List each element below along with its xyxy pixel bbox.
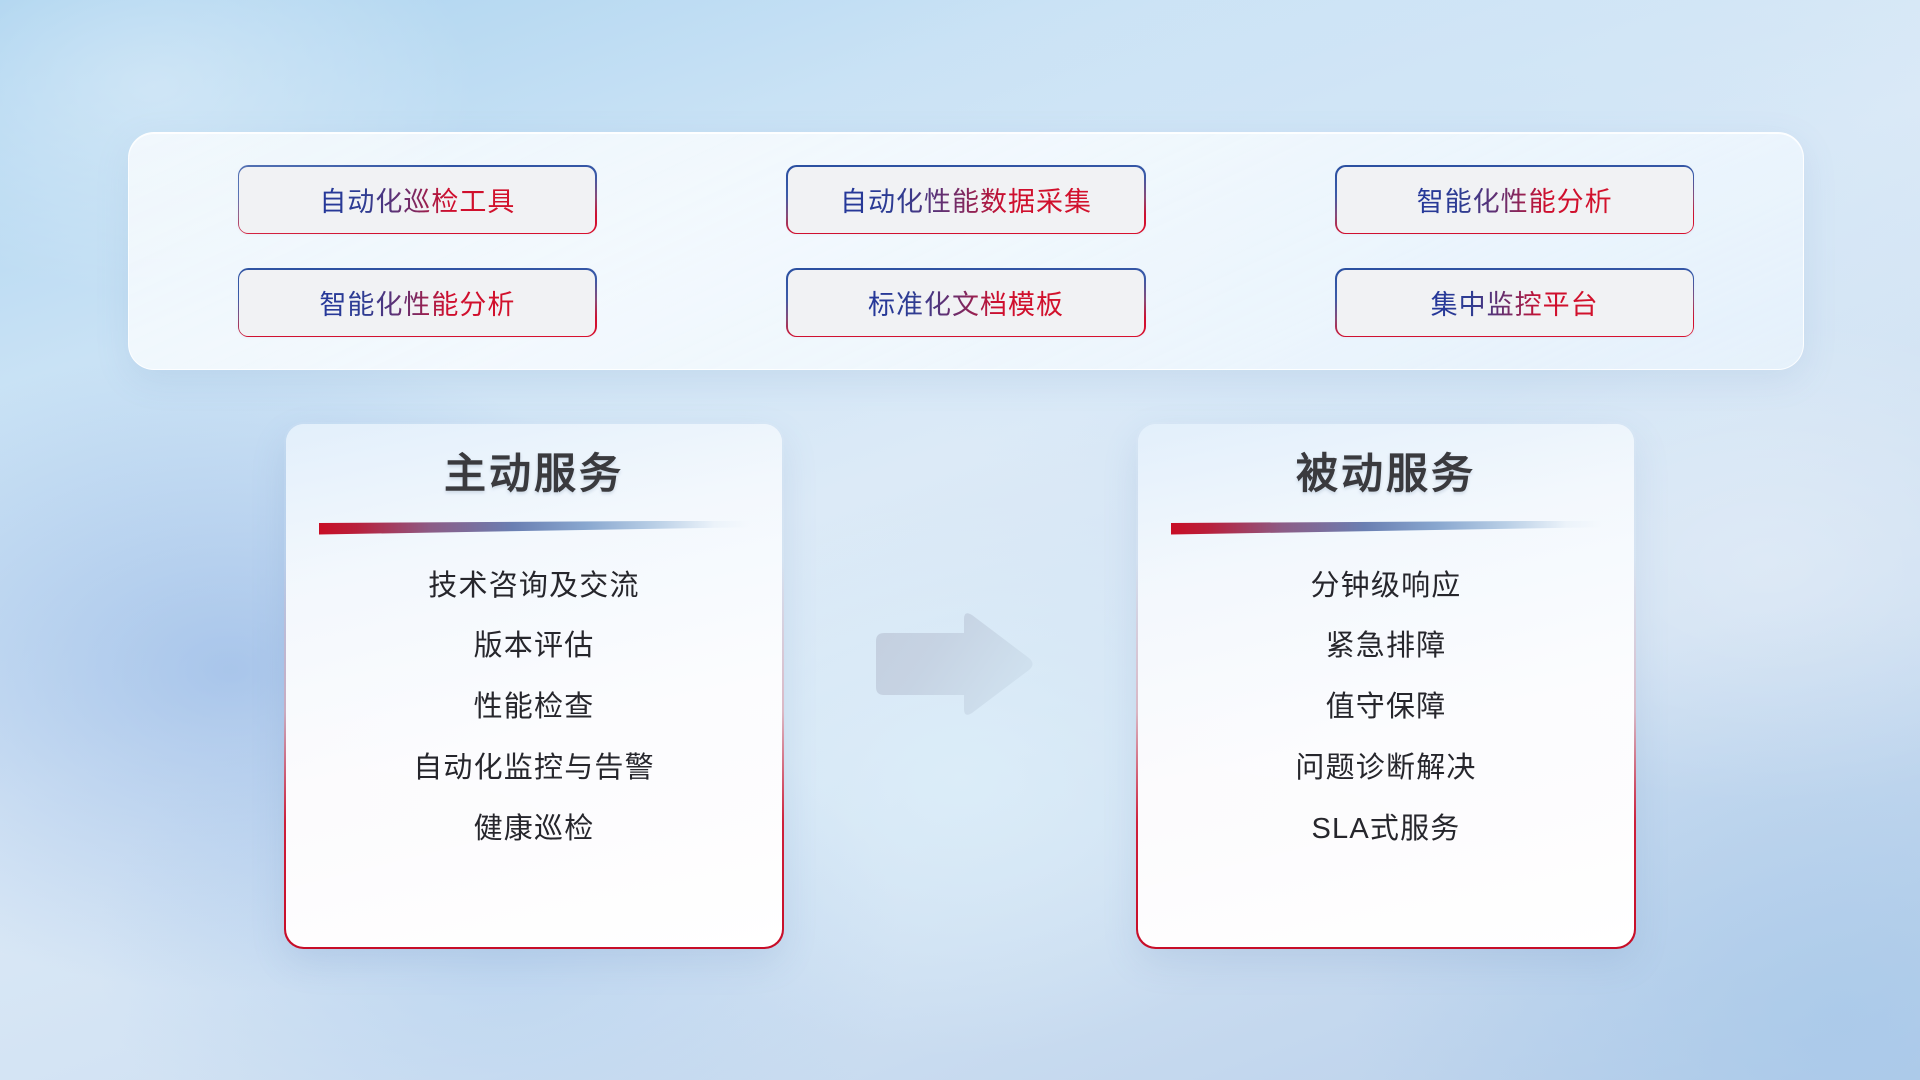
capability-pill[interactable]: 智能化性能分析 xyxy=(239,270,595,336)
capability-pill[interactable]: 集中监控平台 xyxy=(1337,270,1693,336)
service-list-item: 技术咨询及交流 xyxy=(428,569,639,604)
capability-pill-label: 自动化巡检工具 xyxy=(319,180,515,219)
capability-pill[interactable]: 智能化性能分析 xyxy=(1337,167,1693,233)
service-item-list: 技术咨询及交流 版本评估 性能检查 自动化监控与告警 健康巡检 xyxy=(286,569,782,847)
capability-pill[interactable]: 标准化文档模板 xyxy=(788,270,1144,336)
service-card-title: 被动服务 xyxy=(1138,448,1634,501)
service-card-title: 主动服务 xyxy=(286,448,782,501)
service-card-body: 被动服务 分钟级响应 紧急排障 值守保障 问题诊断解决 SLA式服务 xyxy=(1138,424,1634,947)
service-list-item: 版本评估 xyxy=(474,629,595,664)
title-divider xyxy=(1171,521,1601,535)
capability-pill-label: 集中监控平台 xyxy=(1431,283,1599,322)
service-card-proactive[interactable]: 主动服务 技术咨询及交流 版本评估 性能检查 自动化监控与告警 健康巡检 xyxy=(286,424,782,947)
service-list-item: 健康巡检 xyxy=(474,812,595,847)
service-list-item: SLA式服务 xyxy=(1311,812,1460,847)
service-list-item: 性能检查 xyxy=(474,690,595,725)
capability-pill-label: 标准化文档模板 xyxy=(868,283,1064,322)
title-divider xyxy=(319,521,749,535)
service-card-reactive[interactable]: 被动服务 分钟级响应 紧急排障 值守保障 问题诊断解决 SLA式服务 xyxy=(1138,424,1634,947)
service-list-item: 自动化监控与告警 xyxy=(413,751,655,786)
service-list-item: 分钟级响应 xyxy=(1310,569,1461,604)
capability-pill-label: 智能化性能分析 xyxy=(319,283,515,322)
capability-pill-label: 自动化性能数据采集 xyxy=(840,180,1092,219)
service-list-item: 问题诊断解决 xyxy=(1295,751,1476,786)
capability-pill-grid: 自动化巡检工具 自动化性能数据采集 智能化性能分析 智能化性能分析 标准化文档模… xyxy=(129,133,1803,369)
capability-pill[interactable]: 自动化性能数据采集 xyxy=(788,167,1144,233)
capabilities-panel: 自动化巡检工具 自动化性能数据采集 智能化性能分析 智能化性能分析 标准化文档模… xyxy=(128,132,1804,370)
service-list-item: 值守保障 xyxy=(1326,690,1447,725)
service-card-body: 主动服务 技术咨询及交流 版本评估 性能检查 自动化监控与告警 健康巡检 xyxy=(286,424,782,947)
divider-bar xyxy=(1171,521,1601,535)
diagram-canvas: 自动化巡检工具 自动化性能数据采集 智能化性能分析 智能化性能分析 标准化文档模… xyxy=(0,0,1920,1080)
divider-bar xyxy=(319,521,749,535)
service-item-list: 分钟级响应 紧急排障 值守保障 问题诊断解决 SLA式服务 xyxy=(1138,569,1634,847)
capability-pill-label: 智能化性能分析 xyxy=(1417,180,1613,219)
service-list-item: 紧急排障 xyxy=(1326,629,1447,664)
right-arrow-icon xyxy=(866,608,1036,720)
capability-pill[interactable]: 自动化巡检工具 xyxy=(239,167,595,233)
